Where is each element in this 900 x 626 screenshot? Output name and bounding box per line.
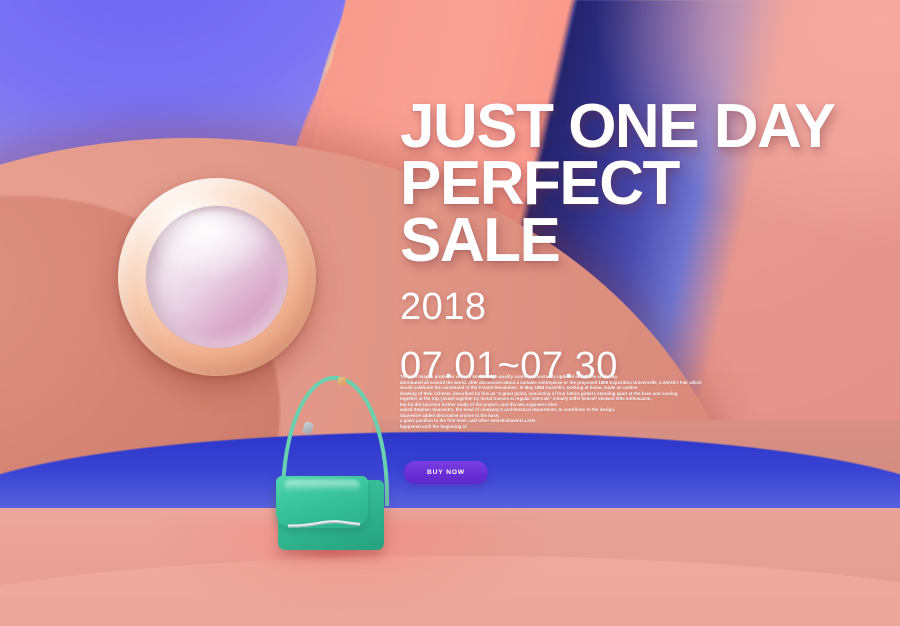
silver-wave-clasp-icon (288, 520, 360, 529)
ring-specular-highlight (156, 210, 274, 282)
handbag-gloss-highlight (284, 480, 360, 492)
headline-line-3: SALE (400, 212, 870, 269)
strap-ring-icon (302, 421, 315, 435)
product-handbag[interactable] (272, 376, 390, 558)
body-copy: Tongilto Images produces various kind of… (400, 374, 750, 429)
headline-block: JUST ONE DAY PERFECT SALE 2018 07.01~07.… (400, 98, 870, 387)
strap-stud-icon (338, 377, 346, 385)
headline-line-2: PERFECT (400, 155, 870, 212)
buy-now-button[interactable]: BUY NOW (404, 461, 488, 484)
promo-banner: JUST ONE DAY PERFECT SALE 2018 07.01~07.… (0, 0, 900, 626)
promo-year: 2018 (400, 287, 870, 328)
body-line: happened until the beginning of (400, 424, 750, 430)
headline-line-1: JUST ONE DAY (400, 98, 870, 155)
